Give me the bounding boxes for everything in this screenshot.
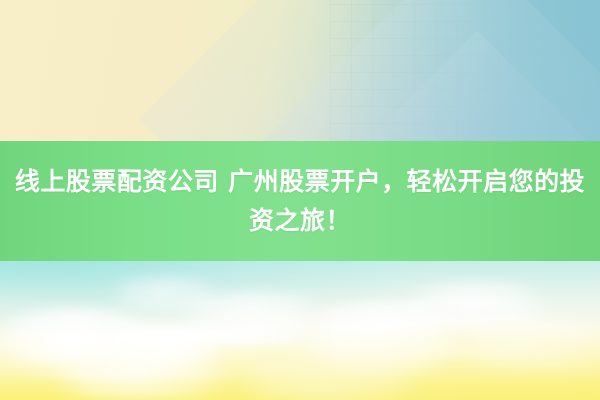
headline-band: 线上股票配资公司 广州股票开户，轻松开启您的投资之旅！ [0, 141, 600, 261]
sky-warm-tint [0, 261, 600, 400]
banner-headline: 线上股票配资公司 广州股票开户，轻松开启您的投资之旅！ [6, 162, 594, 240]
sky-gradient-zone [0, 261, 600, 400]
promo-banner: 线上股票配资公司 广州股票开户，轻松开启您的投资之旅！ [0, 0, 600, 400]
top-decorative-gradient [0, 0, 600, 141]
top-color-wash [0, 0, 600, 141]
